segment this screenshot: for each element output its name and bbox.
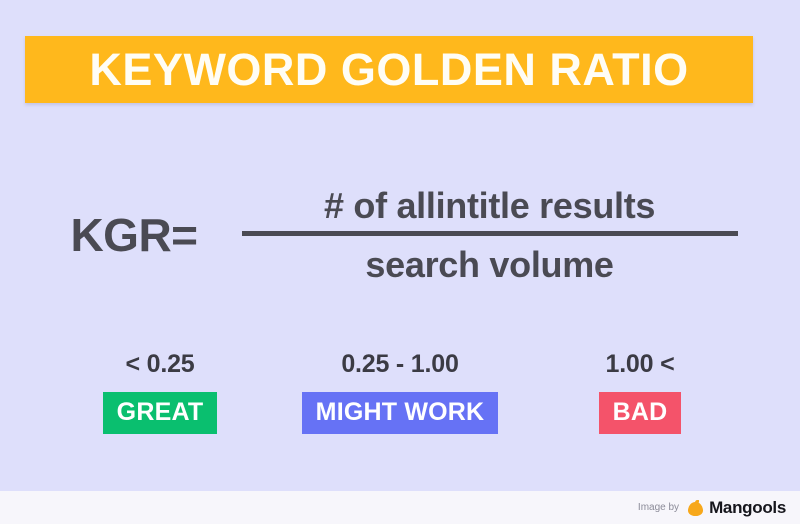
status-badge-great: GREAT <box>103 392 218 434</box>
range-column-bad: 1.00 < BAD <box>520 352 760 434</box>
status-badge-might-work: MIGHT WORK <box>302 392 499 434</box>
mango-logo-icon <box>688 500 703 516</box>
infographic-canvas: KEYWORD GOLDEN RATIO KGR= # of allintitl… <box>0 0 800 524</box>
footer-bar: Image by Mangools <box>0 491 800 524</box>
range-value-might-work: 0.25 - 1.00 <box>341 352 458 377</box>
range-legend: < 0.25 GREAT 0.25 - 1.00 MIGHT WORK 1.00… <box>40 352 760 434</box>
formula-block: KGR= # of allintitle results search volu… <box>0 160 800 310</box>
range-value-great: < 0.25 <box>125 352 194 377</box>
footer-brand-name: Mangools <box>709 499 786 516</box>
range-column-great: < 0.25 GREAT <box>40 352 280 434</box>
formula-numerator: # of allintitle results <box>324 187 655 231</box>
formula-fraction: # of allintitle results search volume <box>242 187 738 284</box>
title-banner: KEYWORD GOLDEN RATIO <box>25 36 753 103</box>
status-badge-bad: BAD <box>599 392 682 434</box>
range-column-might-work: 0.25 - 1.00 MIGHT WORK <box>280 352 520 434</box>
formula-denominator: search volume <box>365 236 613 284</box>
mango-leaf-shape <box>695 500 699 504</box>
range-value-bad: 1.00 < <box>605 352 674 377</box>
footer-credit-text: Image by <box>638 503 679 513</box>
page-title: KEYWORD GOLDEN RATIO <box>89 47 688 92</box>
formula-left-term: KGR= <box>70 212 197 258</box>
mango-body-shape <box>688 502 703 516</box>
